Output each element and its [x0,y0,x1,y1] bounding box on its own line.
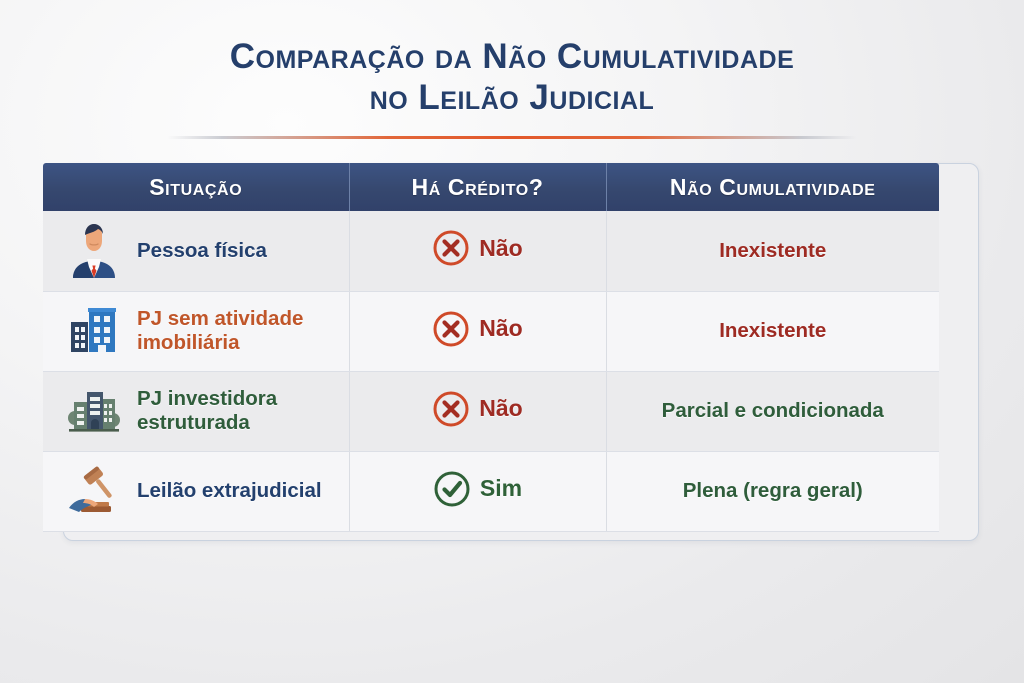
circle-x-icon [432,310,470,348]
page-title-block: Comparação da Não Cumulatividade no Leil… [0,0,1024,139]
table-row: PJ investidora estruturada Não [43,371,939,451]
cumulatividade-label: Inexistente [719,319,826,342]
table-header: Situação Há Crédito? Não Cumulatividade [43,163,939,211]
cell-credito: Não [349,291,606,371]
table-row: Pessoa física Não I [43,211,939,291]
title-divider-rule [167,136,857,139]
situacao-label: PJ sem atividade imobiliária [137,307,339,355]
cell-cumulatividade: Inexistente [606,291,939,371]
situacao-label: Leilão extrajudicial [137,479,322,503]
comparison-table: Situação Há Crédito? Não Cumulatividade [43,163,939,532]
table-header-row: Situação Há Crédito? Não Cumulatividade [43,163,939,211]
cell-situacao: Leilão extrajudicial [43,451,349,531]
cumulatividade-label: Parcial e condicionada [662,399,884,422]
page-title-line-2: no Leilão Judicial [0,77,1024,118]
credito-label: Sim [480,475,522,502]
cumulatividade-label: Inexistente [719,239,826,262]
circle-x-icon [432,229,470,267]
businessman-icon [65,222,123,280]
credito-label: Não [479,395,522,422]
table-body: Pessoa física Não I [43,211,939,531]
situacao-label: Pessoa física [137,239,267,263]
column-header-cumulatividade: Não Cumulatividade [606,163,939,211]
credito-label: Não [479,315,522,342]
situacao-label: PJ investidora estruturada [137,387,339,435]
cell-credito: Não [349,371,606,451]
cell-situacao: Pessoa física [43,211,349,291]
gavel-icon [65,462,123,520]
column-header-situacao: Situação [43,163,349,211]
cell-situacao: PJ sem atividade imobiliária [43,291,349,371]
office-buildings-icon [65,302,123,360]
cumulatividade-label: Plena (regra geral) [683,479,863,502]
comparison-table-card: Situação Há Crédito? Não Cumulatividade [63,163,979,541]
cell-cumulatividade: Inexistente [606,211,939,291]
cell-credito: Não [349,211,606,291]
cityscape-icon [65,382,123,440]
table-row: Leilão extrajudicial Sim [43,451,939,531]
cell-cumulatividade: Parcial e condicionada [606,371,939,451]
cell-cumulatividade: Plena (regra geral) [606,451,939,531]
page-title-line-1: Comparação da Não Cumulatividade [0,36,1024,77]
circle-x-icon [432,390,470,428]
credito-label: Não [479,235,522,262]
column-header-credito: Há Crédito? [349,163,606,211]
cell-credito: Sim [349,451,606,531]
circle-check-icon [433,470,471,508]
table-row: PJ sem atividade imobiliária Não [43,291,939,371]
cell-situacao: PJ investidora estruturada [43,371,349,451]
